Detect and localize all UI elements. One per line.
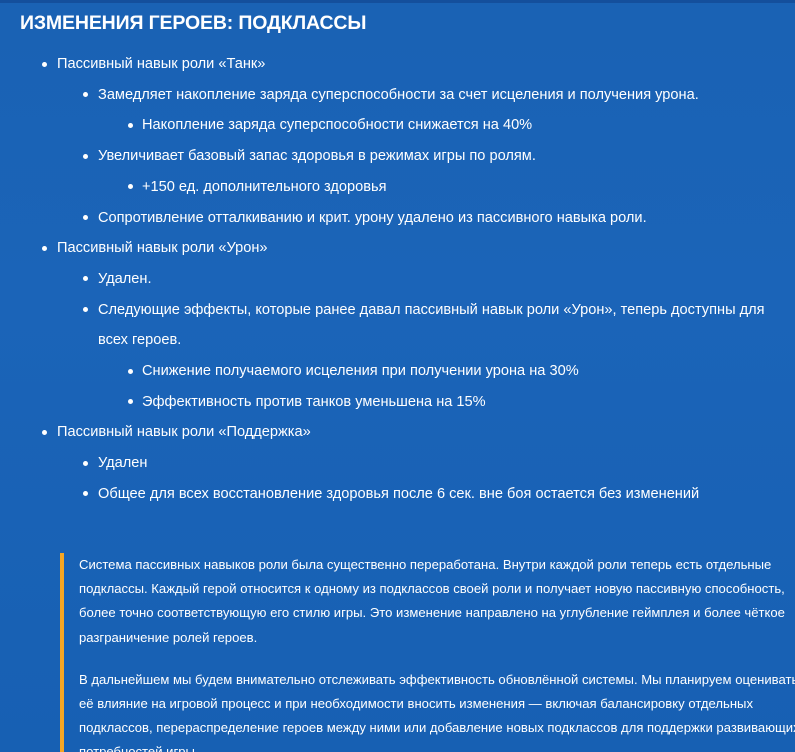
note-item-text: Пассивный навык роли «Урон» [57, 240, 268, 256]
note-item-text: Снижение получаемого исцеления при получ… [142, 363, 579, 379]
bullet-icon [83, 461, 88, 466]
note-item-level-2: Замедляет накопление заряда суперспособн… [20, 80, 778, 111]
patch-notes-page: ИЗМЕНЕНИЯ ГЕРОЕВ: ПОДКЛАССЫ Пассивный на… [0, 0, 795, 752]
bullet-icon [83, 276, 88, 281]
note-item-text: Сопротивление отталкиванию и крит. урону… [98, 210, 647, 226]
note-item-level-3: +150 ед. дополнительного здоровья [20, 172, 778, 203]
bullet-icon [128, 123, 133, 128]
note-item-text: Увеличивает базовый запас здоровья в реж… [98, 148, 536, 164]
note-item-level-1: Пассивный навык роли «Урон» [20, 233, 778, 264]
page-title: ИЗМЕНЕНИЯ ГЕРОЕВ: ПОДКЛАССЫ [20, 11, 775, 35]
top-edge-band [0, 0, 795, 3]
note-item-text: Удален. [98, 271, 152, 287]
callout-paragraph: В дальнейшем мы будем внимательно отслеж… [79, 668, 795, 752]
note-item-text: Замедляет накопление заряда суперспособн… [98, 87, 699, 103]
note-item-text: Удален [98, 455, 147, 471]
bullet-icon [83, 307, 88, 312]
note-item-text: Следующие эффекты, которые ранее давал п… [98, 302, 765, 349]
note-item-level-3: Эффективность против танков уменьшена на… [20, 387, 778, 418]
bullet-icon [83, 154, 88, 159]
note-item-level-1: Пассивный навык роли «Поддержка» [20, 417, 778, 448]
bullet-icon [128, 369, 133, 374]
bullet-icon [83, 92, 88, 97]
bullet-icon [128, 399, 133, 404]
callout-paragraph: Система пассивных навыков роли была суще… [79, 553, 795, 650]
note-item-text: Общее для всех восстановление здоровья п… [98, 486, 699, 502]
note-item-level-1: Пассивный навык роли «Танк» [20, 49, 778, 80]
note-item-text: Эффективность против танков уменьшена на… [142, 394, 486, 410]
note-item-text: Пассивный навык роли «Поддержка» [57, 424, 311, 440]
note-item-level-2: Следующие эффекты, которые ранее давал п… [20, 295, 778, 356]
patch-notes-list: Пассивный навык роли «Танк»Замедляет нак… [20, 49, 778, 510]
bullet-icon [42, 430, 47, 435]
note-item-level-2: Удален. [20, 264, 778, 295]
developer-comment-callout: Система пассивных навыков роли была суще… [60, 553, 795, 752]
bullet-icon [42, 246, 47, 251]
bullet-icon [128, 184, 133, 189]
note-item-level-2: Увеличивает базовый запас здоровья в реж… [20, 141, 778, 172]
bullet-icon [83, 215, 88, 220]
note-item-text: +150 ед. дополнительного здоровья [142, 179, 387, 195]
note-item-text: Накопление заряда суперспособности снижа… [142, 117, 532, 133]
bullet-icon [83, 491, 88, 496]
note-item-level-2: Сопротивление отталкиванию и крит. урону… [20, 203, 778, 234]
note-item-level-2: Общее для всех восстановление здоровья п… [20, 479, 778, 510]
note-item-level-3: Накопление заряда суперспособности снижа… [20, 110, 778, 141]
note-item-level-3: Снижение получаемого исцеления при получ… [20, 356, 778, 387]
note-item-level-2: Удален [20, 448, 778, 479]
note-item-text: Пассивный навык роли «Танк» [57, 56, 265, 72]
bullet-icon [42, 62, 47, 67]
